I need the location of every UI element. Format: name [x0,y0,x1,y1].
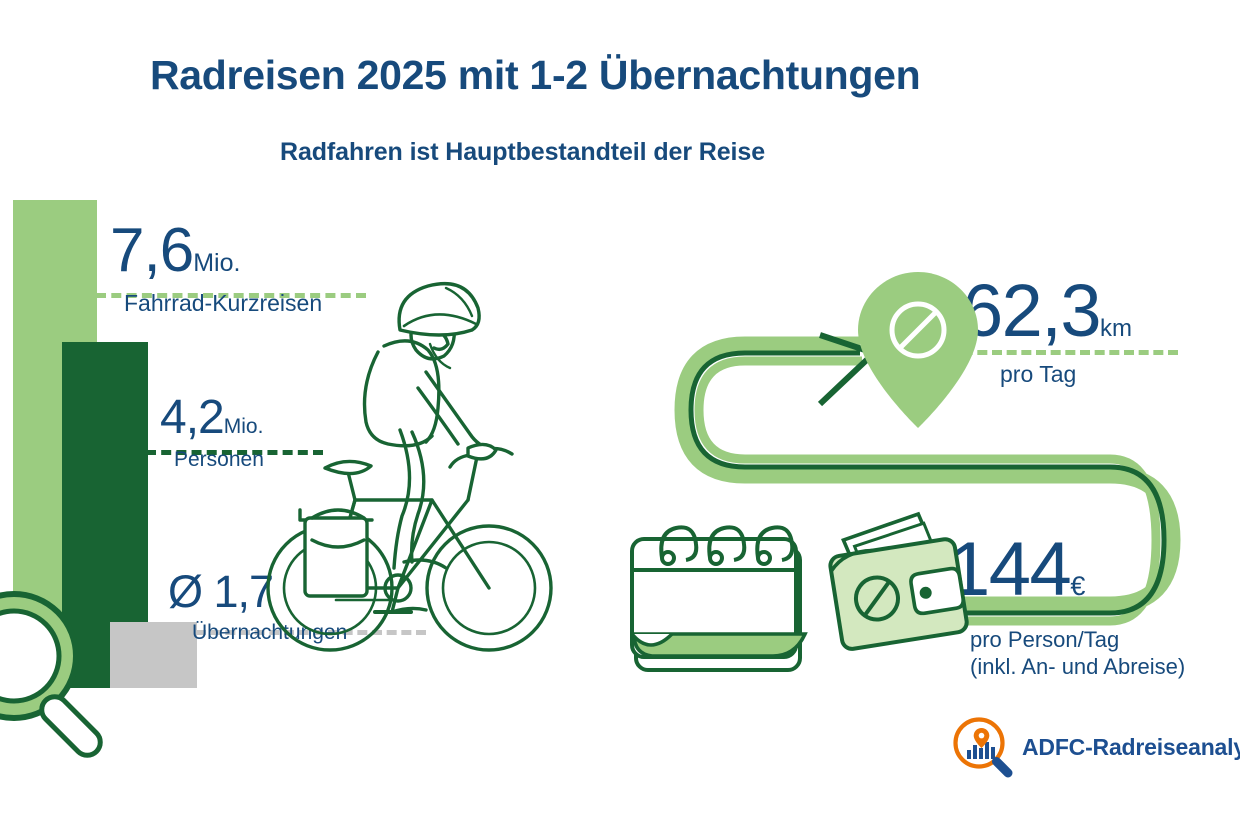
stat-km-per-day: 62,3km pro Tag [962,268,1132,388]
stat-label: Übernachtungen [192,621,347,645]
stat-label-line2: (inkl. An- und Abreise) [970,654,1185,679]
stat-unit: € [1070,571,1085,601]
stat-label: Personen [174,448,264,472]
stat-unit: Mio. [193,249,240,277]
stat-label: pro Person/Tag(inkl. An- und Abreise) [970,627,1185,681]
stat-personen: 4,2Mio. Personen [160,390,264,472]
calendar-value: 1 [678,578,701,625]
stat-label: pro Tag [1000,361,1132,388]
stat-uebernachtungen: Ø 1,7 Übernachtungen [168,566,347,645]
infographic-canvas: Radreisen 2025 mit 1-2 Übernachtungen Ra… [0,0,1240,827]
magnifier-chart-icon [952,716,1014,778]
stat-value: 62,3 [962,269,1100,352]
wallet-icon [824,509,968,650]
calendar-unit: Tag [706,595,745,622]
calendar-day-label: 1 Tag [678,578,745,626]
stat-value: 7,6 [110,216,193,285]
stat-fahrrad-kurzreisen: 7,6Mio. Fahrrad-Kurzreisen [110,215,322,317]
stat-label: Fahrrad-Kurzreisen [124,290,322,317]
stat-value: 4,2 [160,391,224,444]
stat-value: Ø 1,7 [168,566,273,617]
stat-euro-per-person-day: 144€ pro Person/Tag(inkl. An- und Abreis… [948,526,1185,681]
stat-value: 144 [948,527,1070,612]
stat-unit: Mio. [224,415,264,438]
stat-label-line1: pro Person/Tag [970,627,1119,652]
page-title: Radreisen 2025 mit 1-2 Übernachtungen [150,52,920,99]
logo-text: ADFC-Radreiseanalyse [1022,734,1240,761]
page-subtitle: Radfahren ist Hauptbestandteil der Reise [280,138,765,167]
adfc-logo[interactable]: ADFC-Radreiseanalyse [952,716,1240,778]
stat-unit: km [1100,315,1132,342]
